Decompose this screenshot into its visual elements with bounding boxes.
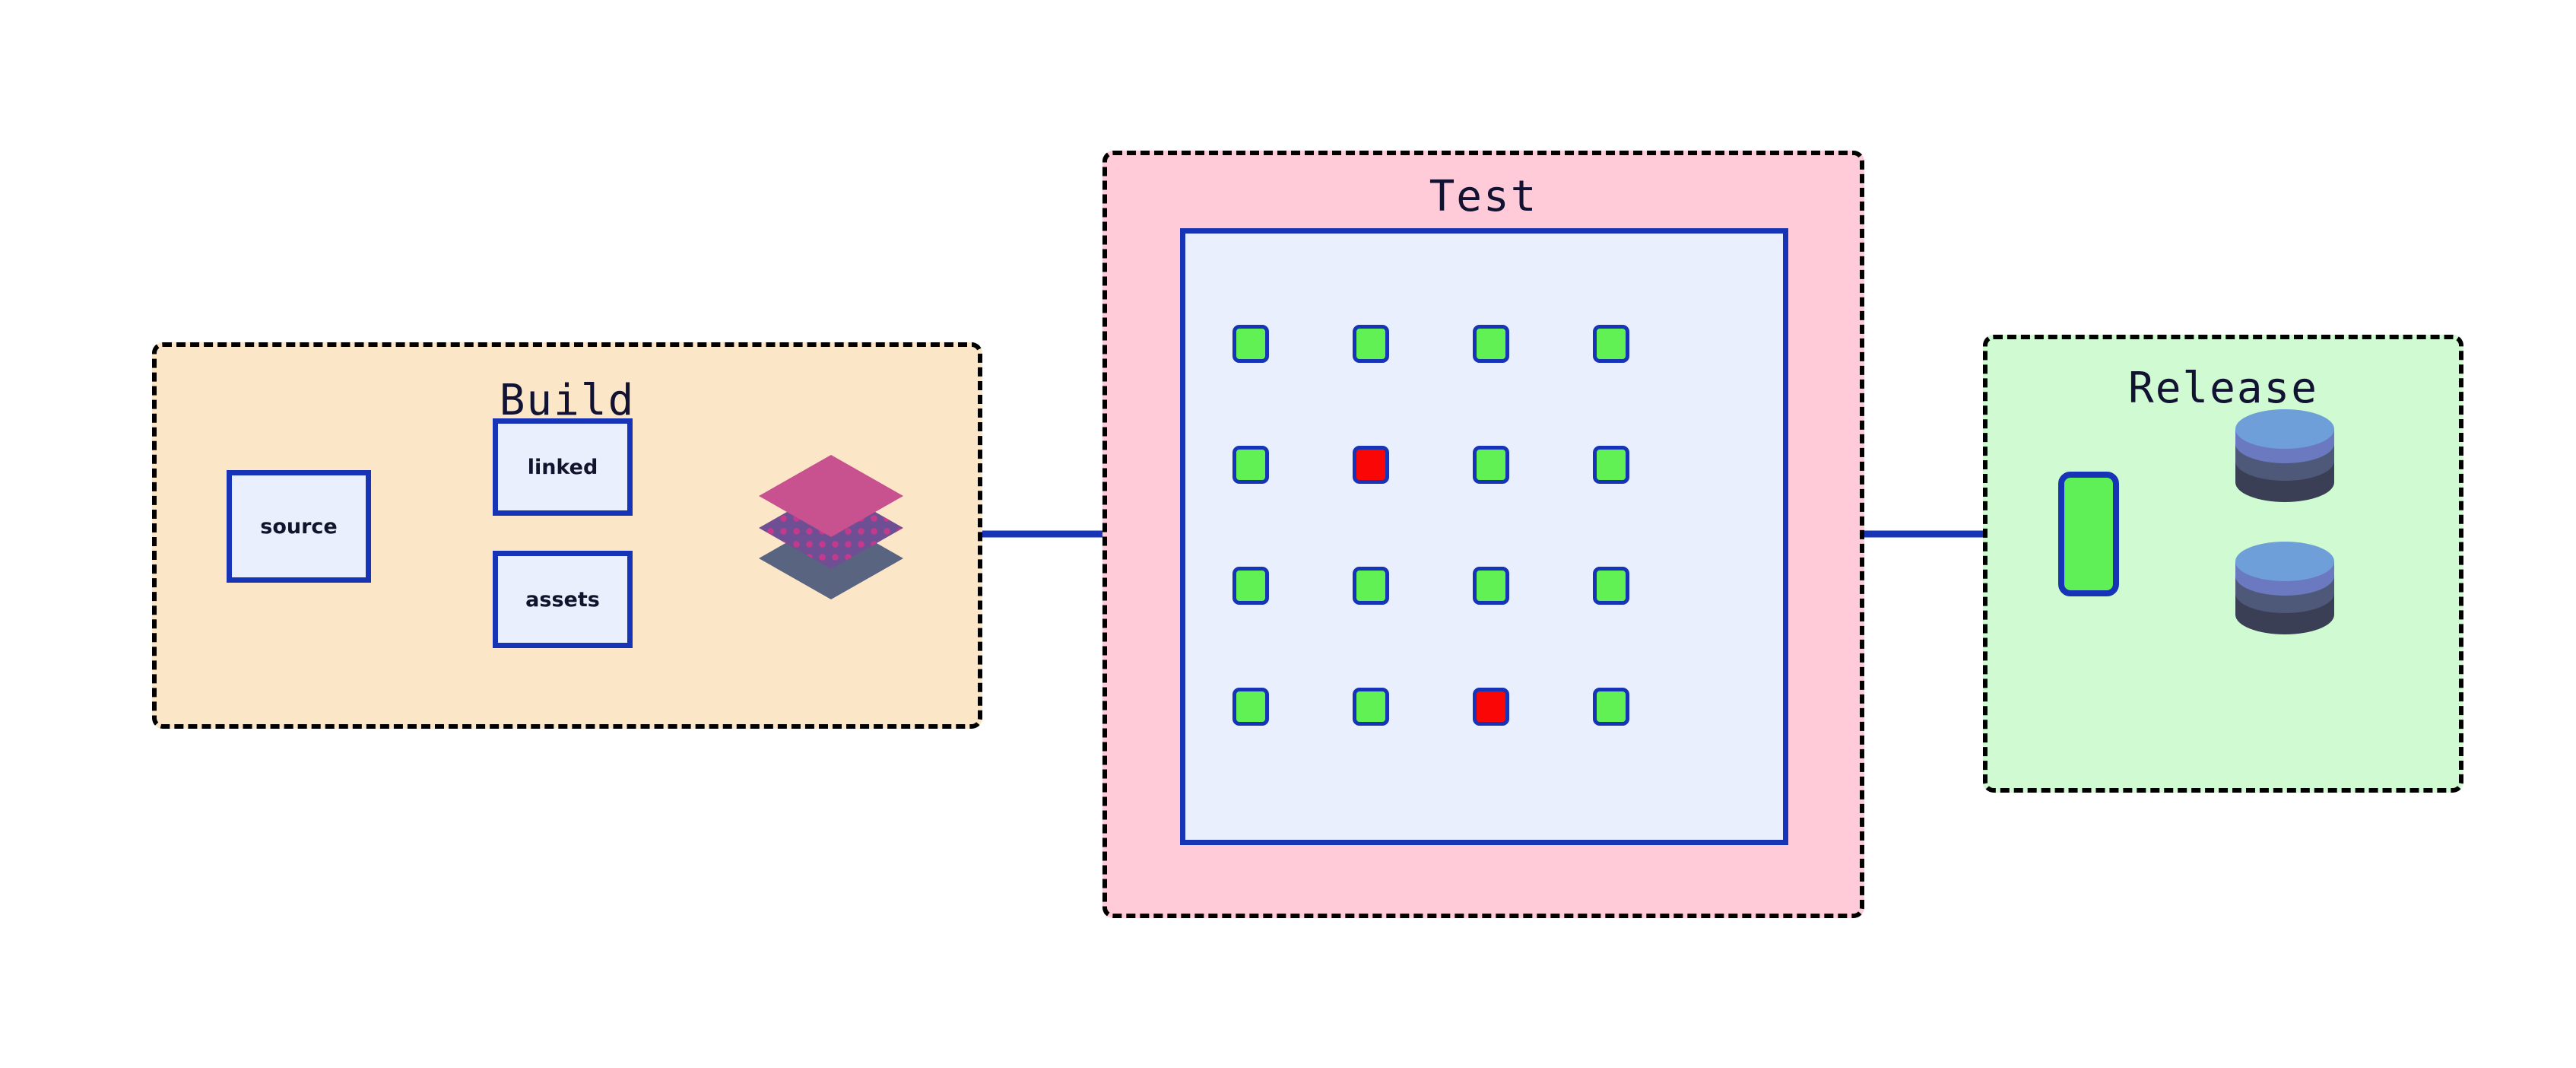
- test-cell-fail[interactable]: [1353, 446, 1389, 484]
- node-linked-label: linked: [528, 456, 598, 479]
- test-results-grid: [1232, 325, 1629, 726]
- test-cell-pass[interactable]: [1232, 325, 1269, 363]
- test-cell-pass[interactable]: [1473, 567, 1509, 605]
- test-cell-pass[interactable]: [1232, 688, 1269, 726]
- node-assets-label: assets: [525, 588, 600, 612]
- node-source[interactable]: source: [227, 470, 371, 583]
- node-assets[interactable]: assets: [493, 551, 633, 648]
- node-deploy[interactable]: [2058, 472, 2119, 596]
- stage-test-title: Test: [1107, 172, 1860, 221]
- database-icon[interactable]: [2235, 542, 2334, 634]
- test-cell-pass[interactable]: [1473, 446, 1509, 484]
- layers-stack-icon[interactable]: [751, 447, 911, 609]
- stage-release-title: Release: [1988, 364, 2459, 413]
- test-cell-pass[interactable]: [1353, 688, 1389, 726]
- test-cell-pass[interactable]: [1232, 567, 1269, 605]
- node-linked[interactable]: linked: [493, 418, 633, 516]
- test-cell-pass[interactable]: [1593, 446, 1629, 484]
- test-results-board[interactable]: [1180, 228, 1788, 845]
- test-cell-pass[interactable]: [1593, 567, 1629, 605]
- test-cell-pass[interactable]: [1232, 446, 1269, 484]
- test-cell-pass[interactable]: [1353, 325, 1389, 363]
- node-source-label: source: [260, 515, 337, 539]
- test-cell-pass[interactable]: [1593, 688, 1629, 726]
- stage-release[interactable]: Release: [1983, 335, 2463, 793]
- database-icon[interactable]: [2235, 409, 2334, 502]
- test-cell-fail[interactable]: [1473, 688, 1509, 726]
- diagram-canvas: Build source linked assets Test Release: [0, 0, 2576, 1068]
- test-cell-pass[interactable]: [1593, 325, 1629, 363]
- test-cell-pass[interactable]: [1473, 325, 1509, 363]
- test-cell-pass[interactable]: [1353, 567, 1389, 605]
